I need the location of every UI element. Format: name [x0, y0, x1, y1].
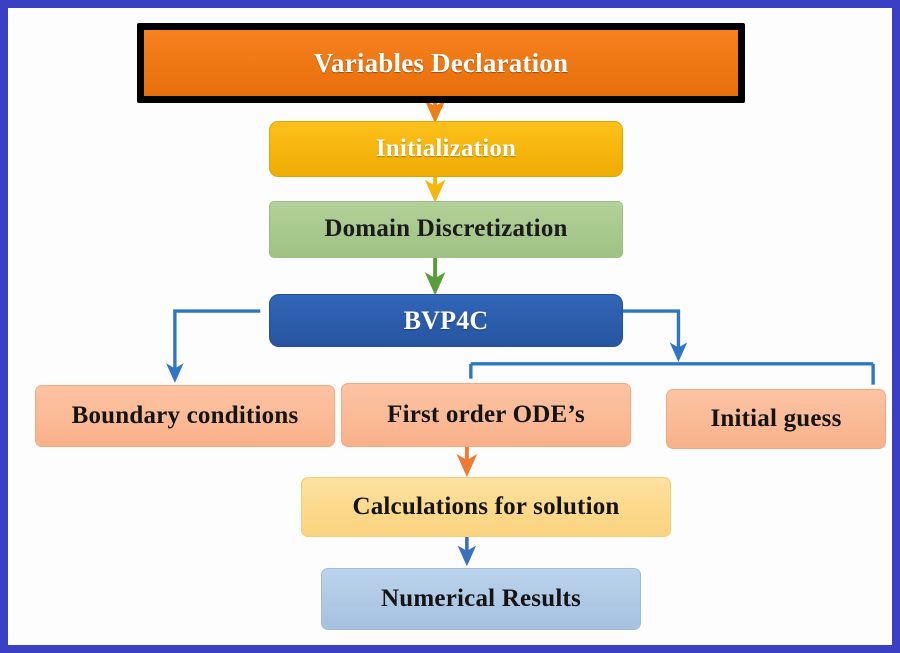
node-calculations-for-solution[interactable]: Calculations for solution	[301, 477, 671, 537]
edge-bvp4c-right-stem	[619, 311, 679, 352]
node-initialization[interactable]: Initialization	[269, 121, 623, 177]
node-boundary-conditions-label: Boundary conditions	[72, 403, 299, 429]
node-bvp4c-label: BVP4C	[404, 307, 489, 334]
node-initial-guess[interactable]: Initial guess	[666, 389, 886, 449]
edge-bvp4c-to-boundary-conditions	[175, 311, 260, 373]
node-numerical-results[interactable]: Numerical Results	[321, 568, 641, 630]
node-initial-guess-label: Initial guess	[710, 406, 841, 432]
node-domain-discretization[interactable]: Domain Discretization	[269, 201, 623, 258]
figure-inner-border: Variables Declaration Initialization Dom…	[8, 8, 892, 645]
node-boundary-conditions[interactable]: Boundary conditions	[35, 385, 335, 447]
node-variables-declaration[interactable]: Variables Declaration	[137, 23, 745, 103]
node-calculations-for-solution-label: Calculations for solution	[352, 494, 619, 520]
figure-frame: Variables Declaration Initialization Dom…	[0, 0, 900, 653]
node-bvp4c[interactable]: BVP4C	[269, 294, 623, 347]
node-domain-discretization-label: Domain Discretization	[324, 216, 567, 242]
node-first-order-odes[interactable]: First order ODE’s	[341, 383, 631, 447]
node-first-order-odes-label: First order ODE’s	[387, 402, 585, 428]
flowchart-canvas: Variables Declaration Initialization Dom…	[11, 11, 889, 642]
node-numerical-results-label: Numerical Results	[381, 586, 581, 612]
node-initialization-label: Initialization	[376, 136, 516, 162]
node-variables-declaration-label: Variables Declaration	[144, 30, 738, 96]
